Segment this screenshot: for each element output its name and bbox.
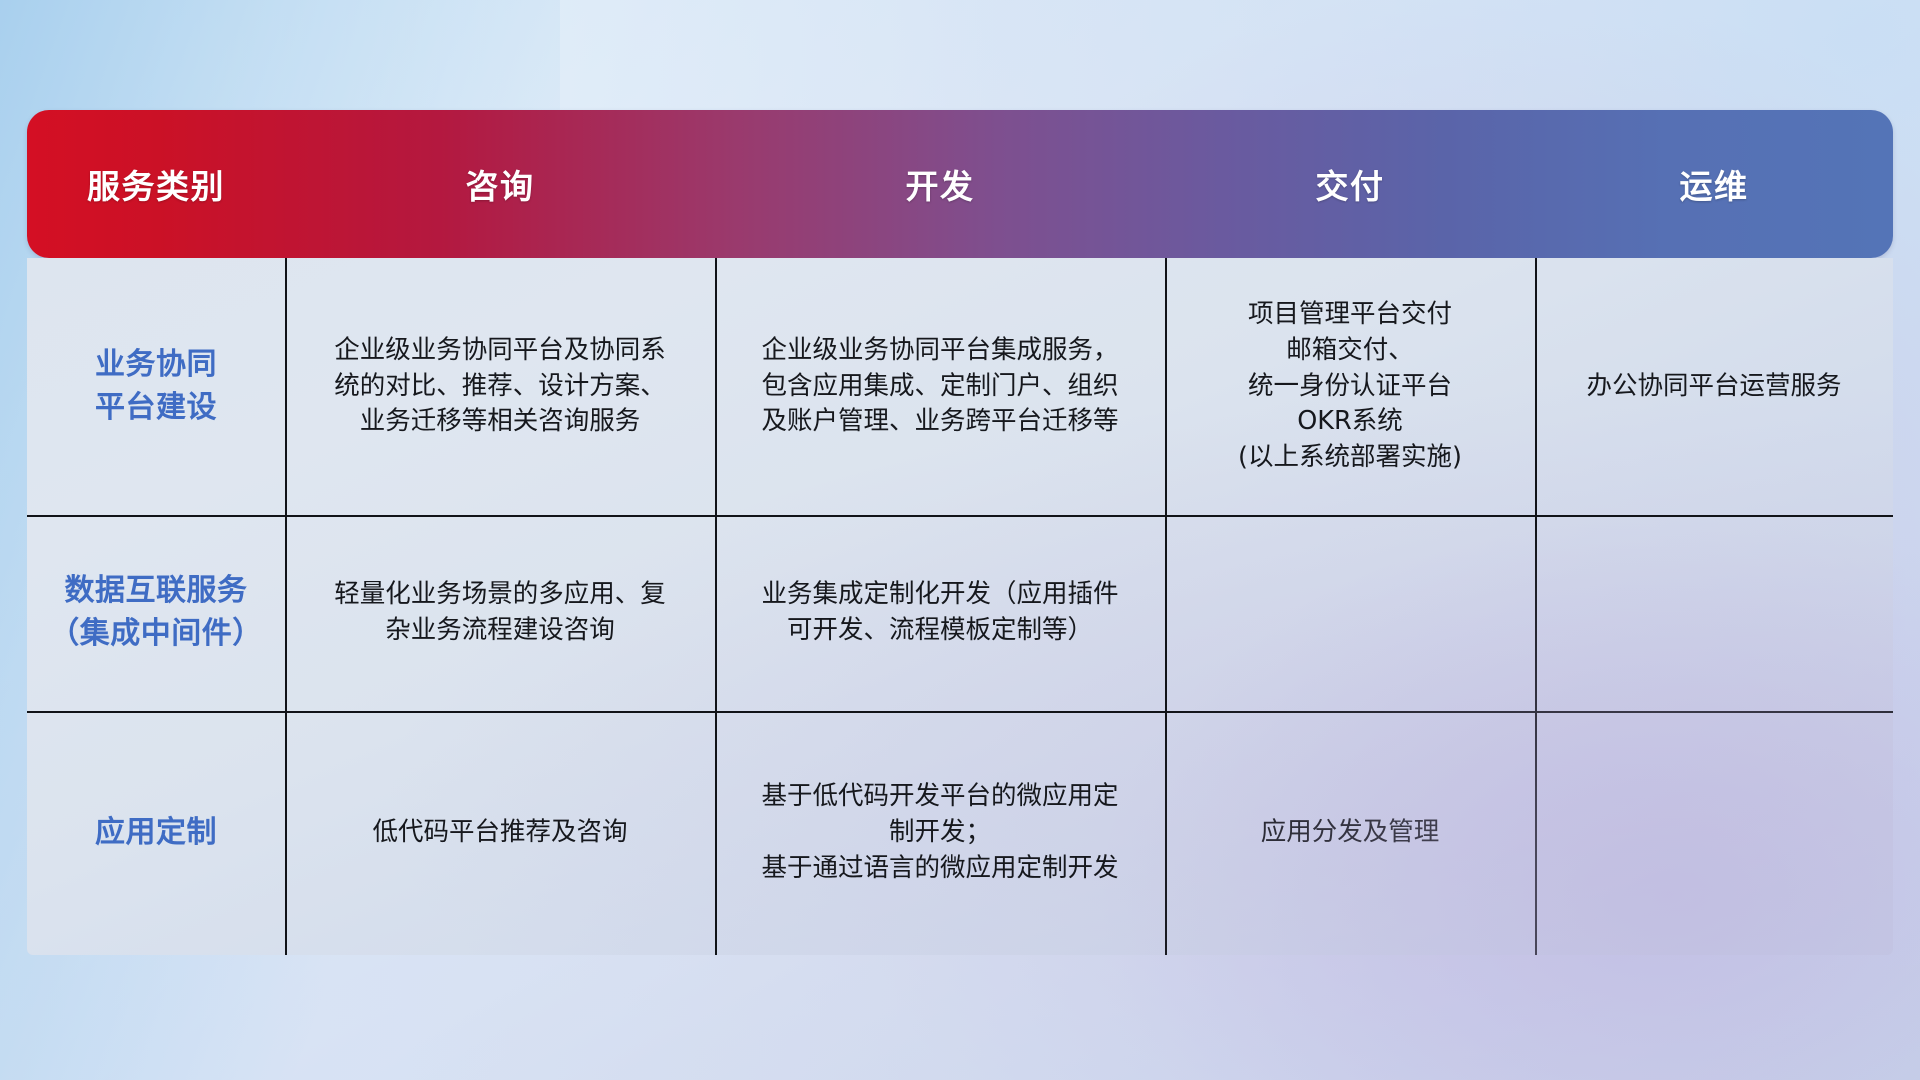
slide-canvas: 服务类别 咨询 开发 交付 运维 业务协同 平台建设 企业级业务协同平台及协同系…: [0, 0, 1920, 1080]
column-header-operations: 运维: [1535, 160, 1893, 208]
column-divider-1: [285, 258, 287, 955]
table-row: 业务协同 平台建设 企业级业务协同平台及协同系 统的对比、推荐、设计方案、 业务…: [27, 258, 1893, 515]
row-3-development: 基于低代码开发平台的微应用定 制开发； 基于通过语言的微应用定制开发: [715, 711, 1165, 955]
column-header-consulting: 咨询: [285, 160, 715, 208]
column-divider-3: [1165, 258, 1167, 955]
row-2-delivery: [1165, 515, 1535, 711]
column-header-development: 开发: [715, 160, 1165, 208]
row-2-category: 数据互联服务 （集成中间件）: [27, 515, 285, 711]
row-3-category: 应用定制: [27, 711, 285, 955]
row-3-consulting: 低代码平台推荐及咨询: [285, 711, 715, 955]
row-2-consulting: 轻量化业务场景的多应用、复 杂业务流程建设咨询: [285, 515, 715, 711]
row-1-operations: 办公协同平台运营服务: [1535, 258, 1893, 515]
table-header-row: 服务类别 咨询 开发 交付 运维: [27, 110, 1893, 258]
row-3-delivery: 应用分发及管理: [1165, 711, 1535, 955]
table-row: 数据互联服务 （集成中间件） 轻量化业务场景的多应用、复 杂业务流程建设咨询 业…: [27, 515, 1893, 711]
row-2-development: 业务集成定制化开发（应用插件 可开发、流程模板定制等）: [715, 515, 1165, 711]
column-divider-4: [1535, 258, 1537, 955]
column-header-category: 服务类别: [27, 160, 285, 208]
column-divider-2: [715, 258, 717, 955]
row-1-category: 业务协同 平台建设: [27, 258, 285, 515]
table-row: 应用定制 低代码平台推荐及咨询 基于低代码开发平台的微应用定 制开发； 基于通过…: [27, 711, 1893, 955]
row-1-delivery: 项目管理平台交付 邮箱交付、 统一身份认证平台 OKR系统 (以上系统部署实施): [1165, 258, 1535, 515]
table-body: 业务协同 平台建设 企业级业务协同平台及协同系 统的对比、推荐、设计方案、 业务…: [27, 258, 1893, 955]
row-2-operations: [1535, 515, 1893, 711]
column-header-delivery: 交付: [1165, 160, 1535, 208]
row-1-consulting: 企业级业务协同平台及协同系 统的对比、推荐、设计方案、 业务迁移等相关咨询服务: [285, 258, 715, 515]
row-1-development: 企业级业务协同平台集成服务， 包含应用集成、定制门户、组织 及账户管理、业务跨平…: [715, 258, 1165, 515]
row-3-operations: [1535, 711, 1893, 955]
service-matrix-table: 服务类别 咨询 开发 交付 运维 业务协同 平台建设 企业级业务协同平台及协同系…: [27, 110, 1893, 955]
